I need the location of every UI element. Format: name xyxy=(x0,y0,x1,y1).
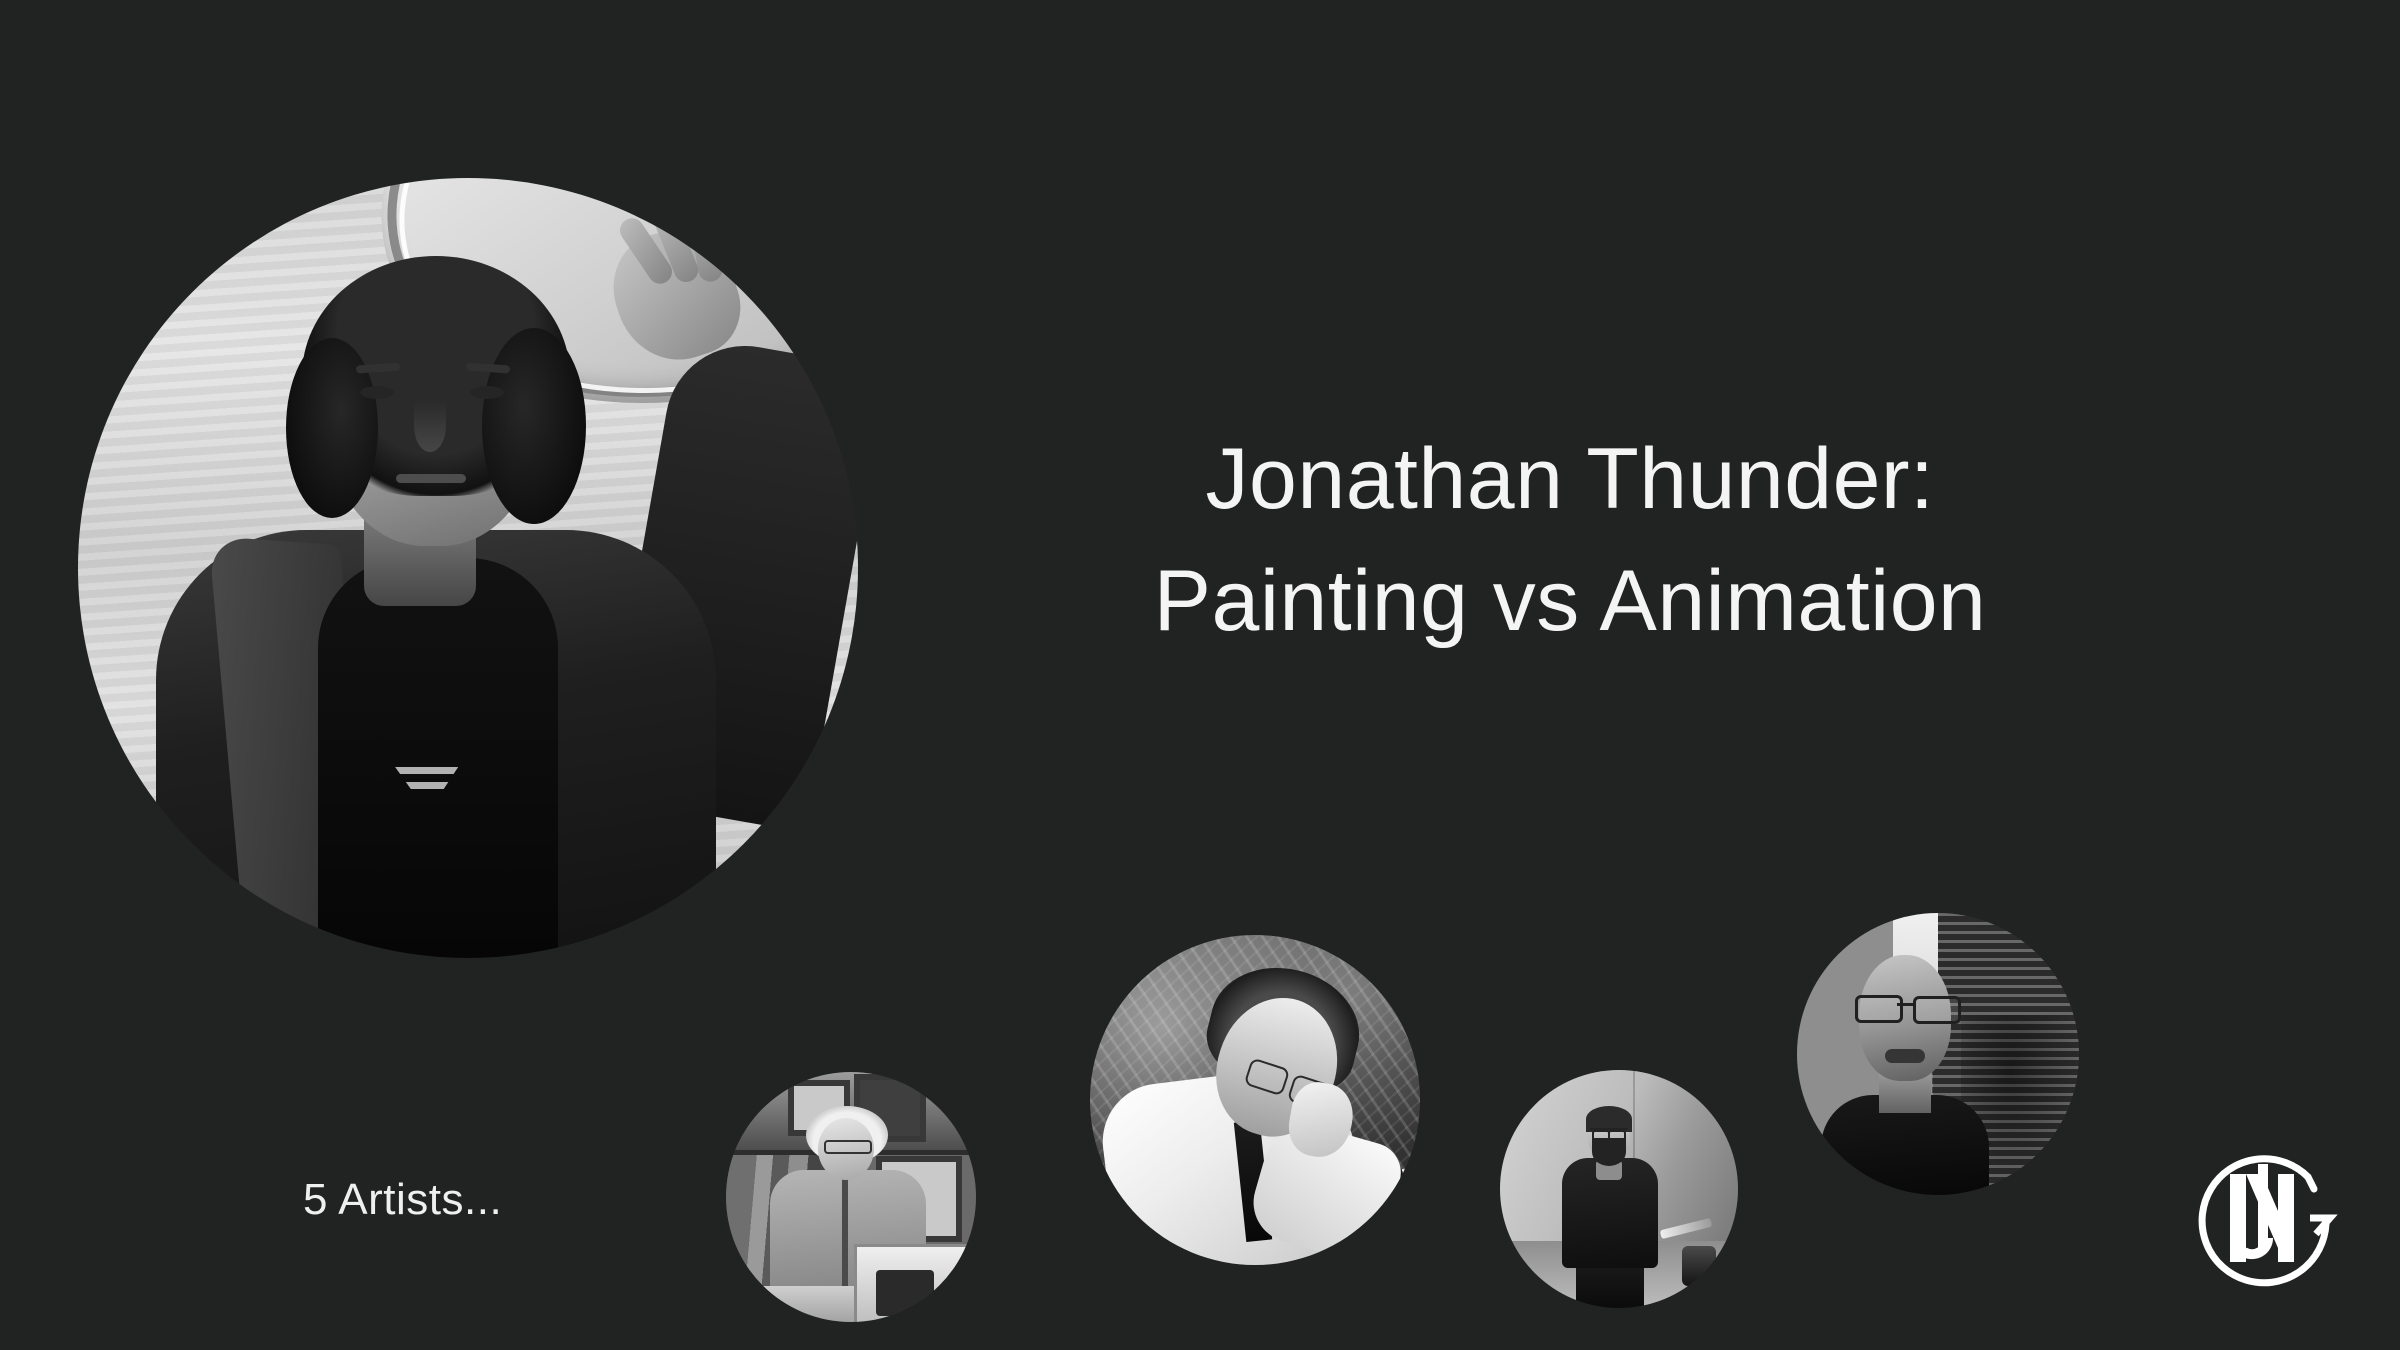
artist-4-glasses xyxy=(1855,995,1959,1019)
artist-3-image xyxy=(1500,1070,1738,1308)
jonathan-thunder-portrait xyxy=(78,178,858,958)
artist-4-image xyxy=(1797,913,2079,1195)
robotic-arm-base xyxy=(1682,1246,1716,1286)
nose xyxy=(414,400,446,452)
printing-press-bed xyxy=(876,1270,934,1316)
artist-2-image xyxy=(1090,935,1420,1265)
mouth xyxy=(396,474,466,483)
artist-4-mouth xyxy=(1885,1049,1925,1063)
artist-portrait-2 xyxy=(1090,935,1420,1265)
title-line-1: Jonathan Thunder: xyxy=(1050,418,2090,540)
artists-count-caption: 5 Artists... xyxy=(303,1175,502,1225)
artist-portrait-3 xyxy=(1500,1070,1738,1308)
nj-monogram-logo[interactable] xyxy=(2192,1142,2344,1294)
artist-1-glasses xyxy=(824,1140,872,1154)
artist-1-image xyxy=(726,1072,976,1322)
title-line-2: Painting vs Animation xyxy=(1050,540,2090,662)
artist-3-beard xyxy=(1592,1138,1626,1166)
artist-portrait-4 xyxy=(1797,913,2079,1195)
artist-portrait-1 xyxy=(726,1072,976,1322)
robotic-arm xyxy=(1660,1212,1726,1288)
slide-title: Jonathan Thunder: Painting vs Animation xyxy=(1050,418,2090,662)
nj-monogram-icon xyxy=(2192,1142,2344,1294)
hair-right xyxy=(482,328,586,524)
hero-portrait-image xyxy=(78,178,858,958)
eye-right xyxy=(470,386,504,399)
robotic-arm-boom xyxy=(1660,1218,1713,1239)
presentation-slide: Jonathan Thunder: Painting vs Animation … xyxy=(0,0,2400,1350)
eye-left xyxy=(360,386,394,399)
